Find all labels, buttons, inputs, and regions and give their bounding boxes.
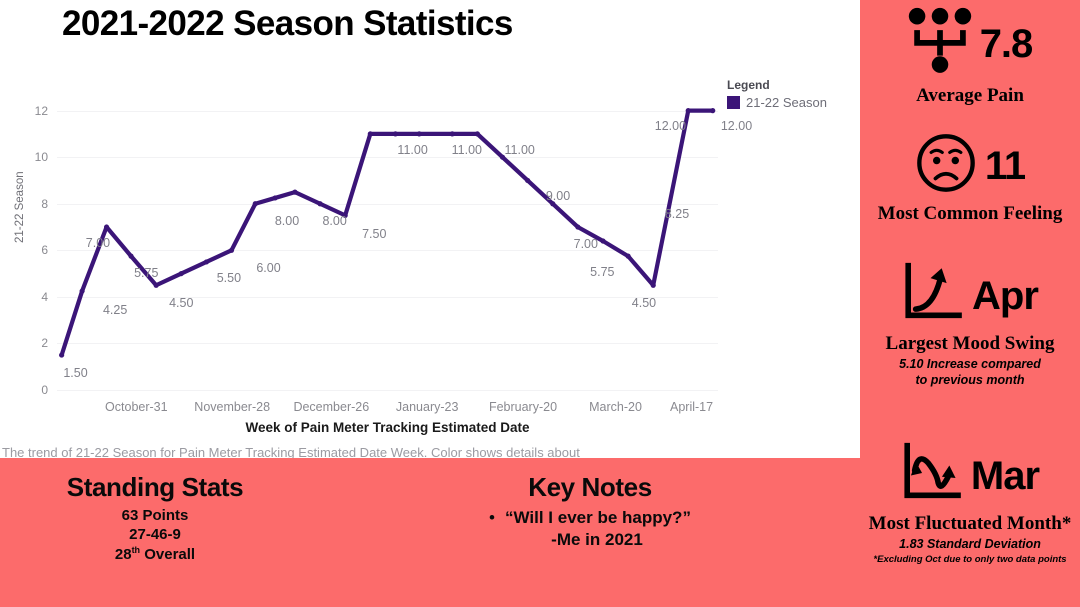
data-point-marker[interactable] bbox=[128, 254, 133, 259]
data-point-marker[interactable] bbox=[317, 201, 322, 206]
standing-stats-rank: 28th Overall bbox=[10, 545, 300, 565]
y-axis-tick-label: 8 bbox=[41, 197, 48, 211]
data-point-marker[interactable] bbox=[417, 131, 422, 136]
data-point-marker[interactable] bbox=[179, 271, 184, 276]
data-point-label: 12.00 bbox=[721, 119, 752, 133]
data-point-marker[interactable] bbox=[393, 131, 398, 136]
legend: Legend 21-22 Season bbox=[727, 78, 827, 110]
x-axis-title: Week of Pain Meter Tracking Estimated Da… bbox=[57, 420, 718, 435]
kpi-label: Average Pain bbox=[860, 85, 1080, 107]
key-notes-attribution: -Me in 2021 bbox=[430, 529, 750, 551]
data-point-marker[interactable] bbox=[292, 190, 297, 195]
key-notes-bullet-item: • “Will I ever be happy?” bbox=[430, 507, 750, 529]
data-point-marker[interactable] bbox=[59, 352, 64, 357]
standing-stats-panel: Standing Stats 63 Points 27-46-9 28th Ov… bbox=[10, 472, 300, 564]
key-notes-panel: Key Notes • “Will I ever be happy?” -Me … bbox=[430, 472, 750, 551]
series-line bbox=[62, 111, 713, 355]
kpi-card-sad-face[interactable]: 11Most Common Feeling bbox=[860, 132, 1080, 225]
legend-item-21-22-season[interactable]: 21-22 Season bbox=[727, 95, 827, 110]
kpi-sidebar: 7.8Average Pain 11Most Common Feeling Ap… bbox=[860, 0, 1080, 607]
data-point-marker[interactable] bbox=[253, 201, 258, 206]
y-axis-title: 21-22 Season bbox=[14, 171, 26, 243]
rank-text: Overall bbox=[140, 546, 195, 563]
page-title: 2021-2022 Season Statistics bbox=[62, 4, 513, 44]
y-axis-tick-label: 0 bbox=[41, 383, 48, 397]
kpi-sub: 5.10 Increase comparedto previous month bbox=[860, 357, 1080, 388]
y-axis-tick-label: 4 bbox=[41, 290, 48, 304]
legend-title: Legend bbox=[727, 78, 827, 92]
y-axis-tick-label: 2 bbox=[41, 336, 48, 350]
kpi-sub: 1.83 Standard Deviation bbox=[860, 537, 1080, 553]
kpi-label: Most Fluctuated Month* bbox=[860, 513, 1080, 535]
x-axis-ticks: October-31November-28December-26January-… bbox=[57, 400, 718, 418]
legend-swatch-icon bbox=[727, 96, 740, 109]
y-axis-tick-label: 12 bbox=[35, 104, 48, 118]
data-point-marker[interactable] bbox=[626, 254, 631, 259]
y-axis-tick-label: 10 bbox=[35, 150, 48, 164]
data-point-marker[interactable] bbox=[80, 288, 85, 293]
data-point-marker[interactable] bbox=[651, 283, 656, 288]
data-point-marker[interactable] bbox=[575, 224, 580, 229]
x-axis-tick-label: October-31 bbox=[105, 400, 168, 414]
kpi-top-row: Mar bbox=[860, 442, 1080, 509]
kpi-top-row: 7.8 bbox=[860, 6, 1080, 81]
data-point-marker[interactable] bbox=[600, 238, 605, 243]
kpi-top-row: Apr bbox=[860, 262, 1080, 329]
data-point-marker[interactable] bbox=[229, 248, 234, 253]
kpi-label: Largest Mood Swing bbox=[860, 333, 1080, 355]
sad-face-icon bbox=[915, 132, 977, 194]
kpi-value: Apr bbox=[972, 276, 1038, 316]
data-point-marker[interactable] bbox=[550, 201, 555, 206]
y-axis-tick-label: 6 bbox=[41, 243, 48, 257]
data-point-marker[interactable] bbox=[154, 283, 159, 288]
wavy-trend-icon-wrap bbox=[901, 442, 963, 509]
x-axis-tick-label: December-26 bbox=[293, 400, 369, 414]
legend-item-label: 21-22 Season bbox=[746, 95, 827, 110]
key-notes-quote: “Will I ever be happy?” bbox=[505, 507, 691, 529]
bullet-icon: • bbox=[489, 507, 495, 529]
x-axis-tick-label: March-20 bbox=[589, 400, 642, 414]
x-axis-tick-label: April-17 bbox=[670, 400, 713, 414]
standing-stats-points: 63 Points bbox=[10, 507, 300, 526]
gear-shift-icon-wrap bbox=[908, 6, 972, 81]
data-point-marker[interactable] bbox=[368, 131, 373, 136]
kpi-card-gear-shift[interactable]: 7.8Average Pain bbox=[860, 6, 1080, 107]
standing-stats-record: 27-46-9 bbox=[10, 526, 300, 545]
rising-trend-icon-wrap bbox=[902, 262, 964, 329]
kpi-value: 11 bbox=[985, 146, 1025, 186]
data-point-marker[interactable] bbox=[273, 195, 278, 200]
data-point-marker[interactable] bbox=[204, 259, 209, 264]
rising-trend-icon bbox=[902, 262, 964, 324]
key-notes-heading: Key Notes bbox=[430, 472, 750, 503]
data-point-marker[interactable] bbox=[710, 108, 715, 113]
wavy-trend-icon bbox=[901, 442, 963, 504]
chart-caption: The trend of 21-22 Season for Pain Meter… bbox=[2, 445, 702, 458]
rank-suffix: th bbox=[132, 545, 141, 555]
data-point-marker[interactable] bbox=[525, 178, 530, 183]
standing-stats-heading: Standing Stats bbox=[10, 472, 300, 503]
x-axis-tick-label: November-28 bbox=[194, 400, 270, 414]
line-series-21-22-season bbox=[57, 92, 718, 390]
rank-number: 28 bbox=[115, 546, 132, 563]
kpi-sub2: *Excluding Oct due to only two data poin… bbox=[860, 554, 1080, 565]
kpi-label: Most Common Feeling bbox=[860, 203, 1080, 225]
x-axis-tick-label: February-20 bbox=[489, 400, 557, 414]
sad-face-icon-wrap bbox=[915, 132, 977, 199]
data-point-marker[interactable] bbox=[104, 224, 109, 229]
chart-panel: 2021-2022 Season Statistics 21-22 Season… bbox=[0, 0, 860, 458]
data-point-marker[interactable] bbox=[500, 155, 505, 160]
gridline bbox=[57, 390, 718, 391]
data-point-marker[interactable] bbox=[450, 131, 455, 136]
kpi-value: Mar bbox=[971, 456, 1039, 496]
data-point-marker[interactable] bbox=[686, 108, 691, 113]
kpi-value: 7.8 bbox=[980, 24, 1033, 64]
gear-shift-icon bbox=[908, 6, 972, 76]
data-point-marker[interactable] bbox=[475, 131, 480, 136]
kpi-card-wavy-trend[interactable]: MarMost Fluctuated Month*1.83 Standard D… bbox=[860, 442, 1080, 565]
kpi-card-rising-trend[interactable]: AprLargest Mood Swing5.10 Increase compa… bbox=[860, 262, 1080, 388]
kpi-top-row: 11 bbox=[860, 132, 1080, 199]
data-point-marker[interactable] bbox=[343, 213, 348, 218]
x-axis-tick-label: January-23 bbox=[396, 400, 459, 414]
plot-area: 024681012 1.504.257.005.754.505.506.008.… bbox=[57, 92, 718, 390]
